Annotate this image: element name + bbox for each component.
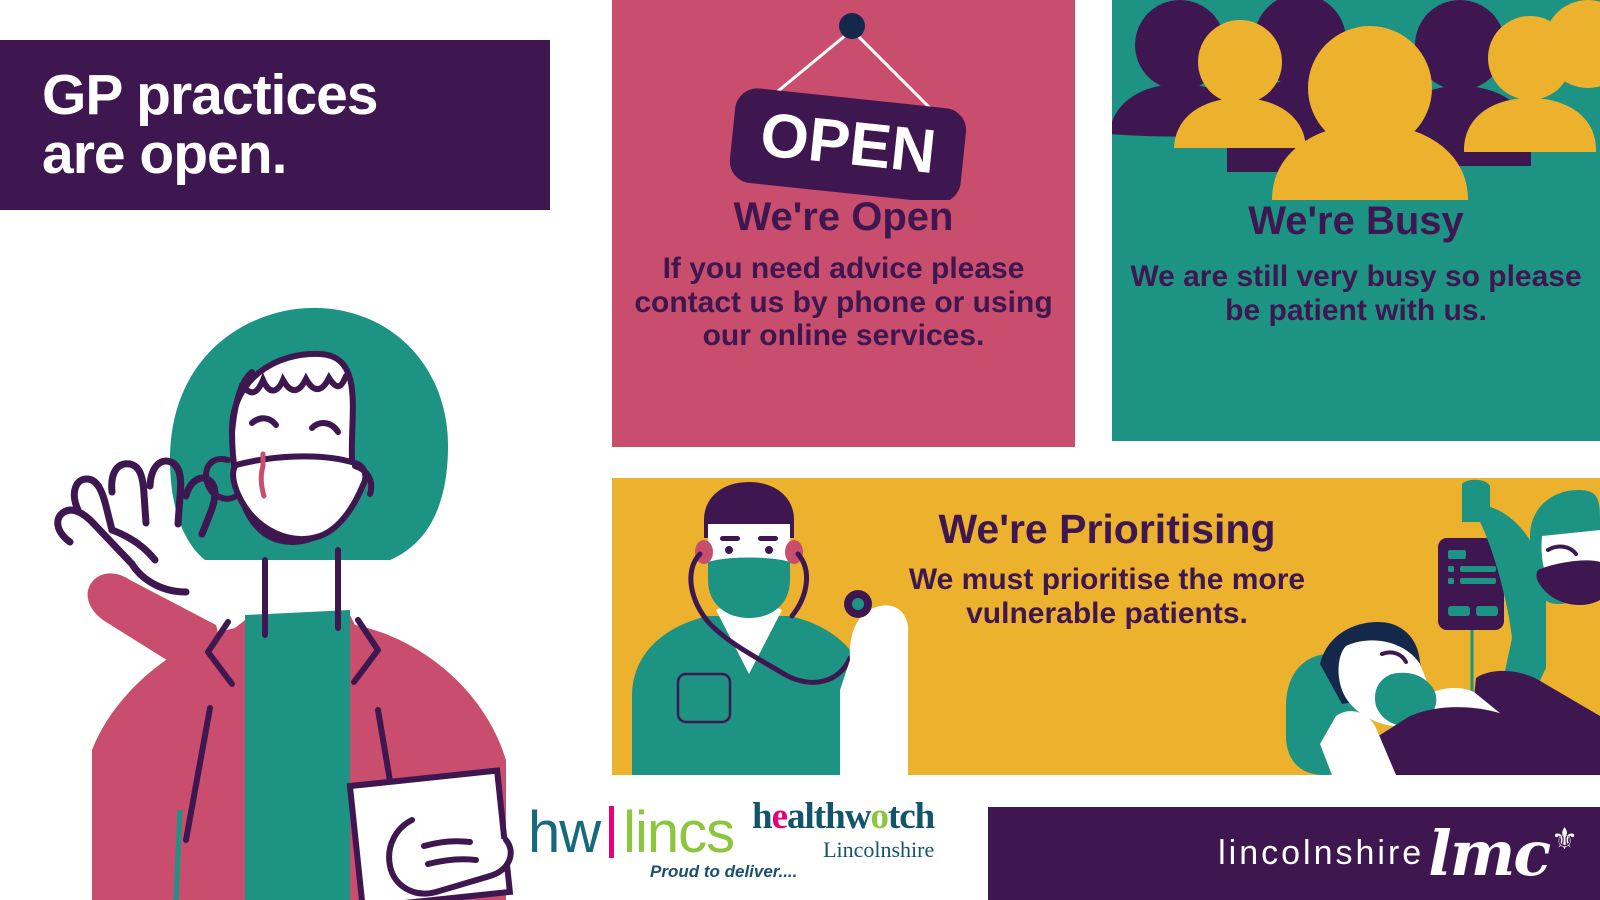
title-line-1: GP practices: [42, 66, 550, 125]
infographic-canvas: GP practices are open.: [0, 0, 1600, 900]
healthwatch-a-dot: o: [870, 796, 888, 837]
panel-prioritising-body: We must prioritise the more vulnerable p…: [862, 563, 1352, 630]
lmc-county-text: lincolnshire: [1218, 834, 1424, 873]
healthwatch-alth: alth: [787, 796, 845, 837]
sign-hook-dot: [839, 13, 865, 39]
panel-were-prioritising: We're Prioritising We must prioritise th…: [612, 478, 1600, 775]
title-line-2: are open.: [42, 125, 550, 184]
hwlincs-logo: hw lincs: [528, 800, 734, 862]
panel-busy-heading: We're Busy: [1124, 200, 1588, 242]
panel-busy-body: We are still very busy so please be pati…: [1124, 260, 1588, 327]
panel-were-open: OPEN We're Open If you need advice pleas…: [612, 0, 1075, 447]
healthwatch-h: h: [752, 796, 772, 837]
panel-were-busy: We're Busy We are still very busy so ple…: [1112, 0, 1600, 441]
hwlincs-lincs-text: lincs: [623, 804, 734, 862]
hwlincs-tagline: Proud to deliver....: [650, 862, 797, 882]
lmc-wordmark: lmc: [1428, 823, 1549, 885]
woman-clipboard: [350, 771, 511, 900]
crowd-of-people-icon: [1112, 0, 1600, 200]
healthwatch-e: e: [772, 796, 787, 837]
healthwatch-wordmark: healthwotch: [752, 798, 934, 835]
panel-open-heading: We're Open: [622, 196, 1065, 238]
hwlincs-hw-text: hw: [528, 804, 600, 862]
hwlincs-divider: [609, 806, 614, 858]
open-sign-icon: OPEN: [612, 0, 1075, 200]
panel-open-body: If you need advice please contact us by …: [622, 252, 1065, 353]
fleur-de-lis-icon: ⚜: [1551, 822, 1578, 857]
healthwatch-logo: healthwotch Lincolnshire: [752, 798, 934, 863]
patient-and-nurse-illustration: [1280, 478, 1600, 775]
waving-woman-illustration: [20, 280, 540, 900]
healthwatch-w: w: [845, 796, 871, 837]
healthwatch-subtitle: Lincolnshire: [752, 837, 934, 863]
lincolnshire-lmc-logo-bar: lincolnshire lmc ⚜: [988, 807, 1600, 900]
panel-prioritising-heading: We're Prioritising: [862, 508, 1352, 551]
footer-logo-group: hw lincs Proud to deliver.... healthwotc…: [520, 790, 990, 900]
title-banner: GP practices are open.: [0, 40, 550, 210]
doctor-hand: [840, 605, 908, 775]
healthwatch-tch: tch: [888, 796, 934, 837]
